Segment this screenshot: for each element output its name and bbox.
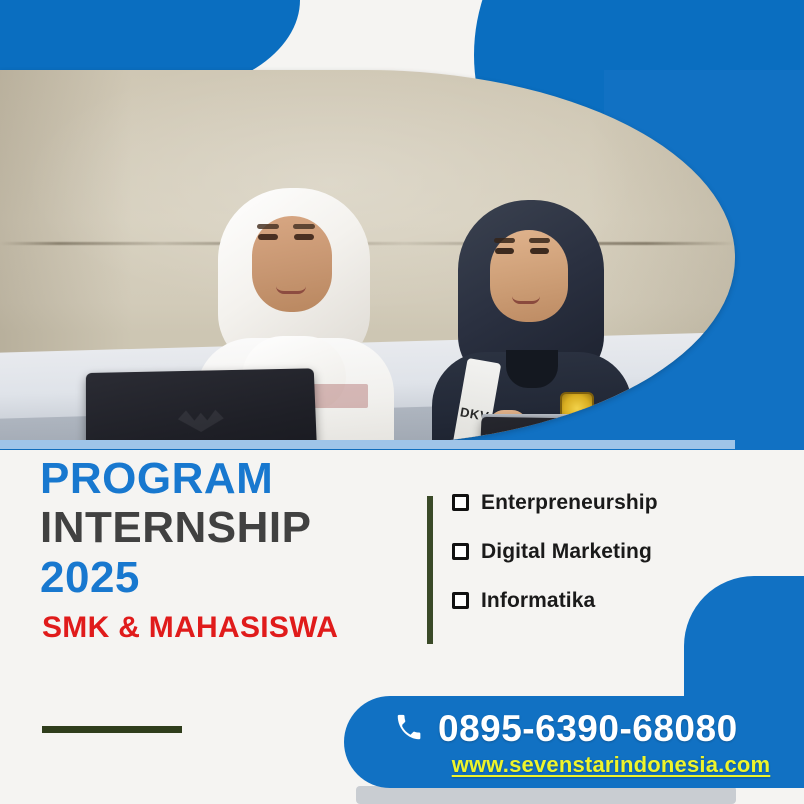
person-right-eye-left xyxy=(495,248,514,254)
person-right-eyebrow-right xyxy=(529,238,550,243)
phone-number: 0895-6390-68080 xyxy=(438,710,738,747)
empty-checkbox-icon xyxy=(452,543,469,560)
person-left-mouth xyxy=(276,286,306,294)
headline-year: 2025 xyxy=(40,554,420,602)
person-right-mouth xyxy=(512,296,540,304)
laptop-left xyxy=(86,368,318,445)
headline-target-audience: SMK & MAHASISWA xyxy=(42,611,420,646)
program-label: Informatika xyxy=(481,590,595,611)
green-horizontal-rule xyxy=(42,726,182,733)
person-left-eye-left xyxy=(258,234,278,240)
person-right-face xyxy=(490,230,568,322)
person-right: DKV xyxy=(432,200,632,430)
hero-photo: DKV xyxy=(0,70,735,445)
phone-handset-icon xyxy=(394,713,424,743)
program-label: Digital Marketing xyxy=(481,541,652,562)
person-left-face xyxy=(252,216,332,312)
person-left-eyebrow-right xyxy=(293,224,315,229)
person-left-eye-right xyxy=(294,234,314,240)
headline-internship: INTERNSHIP xyxy=(40,504,420,552)
program-label: Enterpreneurship xyxy=(481,492,658,513)
empty-checkbox-icon xyxy=(452,592,469,609)
headline-program: PROGRAM xyxy=(40,456,420,502)
photo-background: DKV xyxy=(0,70,735,445)
promotional-poster: DKV PROGRAM INTERNSHIP 2025 xyxy=(0,0,804,804)
phone-row[interactable]: 0895-6390-68080 xyxy=(394,704,794,752)
light-blue-band xyxy=(0,440,735,449)
person-left-eyebrow-left xyxy=(257,224,279,229)
list-item[interactable]: Digital Marketing xyxy=(452,541,772,562)
person-left-jacket-print-right xyxy=(312,384,368,408)
person-right-collar xyxy=(506,350,558,388)
contact-bar: 0895-6390-68080 www.sevenstarindonesia.c… xyxy=(344,696,804,788)
laptop-left-logo xyxy=(178,410,224,433)
empty-checkbox-icon xyxy=(452,494,469,511)
pill-bottom-shadow xyxy=(356,786,736,804)
person-right-eyebrow-left xyxy=(494,238,515,243)
vertical-divider xyxy=(427,496,433,644)
person-right-eye-right xyxy=(530,248,549,254)
headline-block: PROGRAM INTERNSHIP 2025 SMK & MAHASISWA xyxy=(40,456,420,645)
list-item[interactable]: Enterpreneurship xyxy=(452,492,772,513)
website-url[interactable]: www.sevenstarindonesia.com xyxy=(416,754,804,776)
